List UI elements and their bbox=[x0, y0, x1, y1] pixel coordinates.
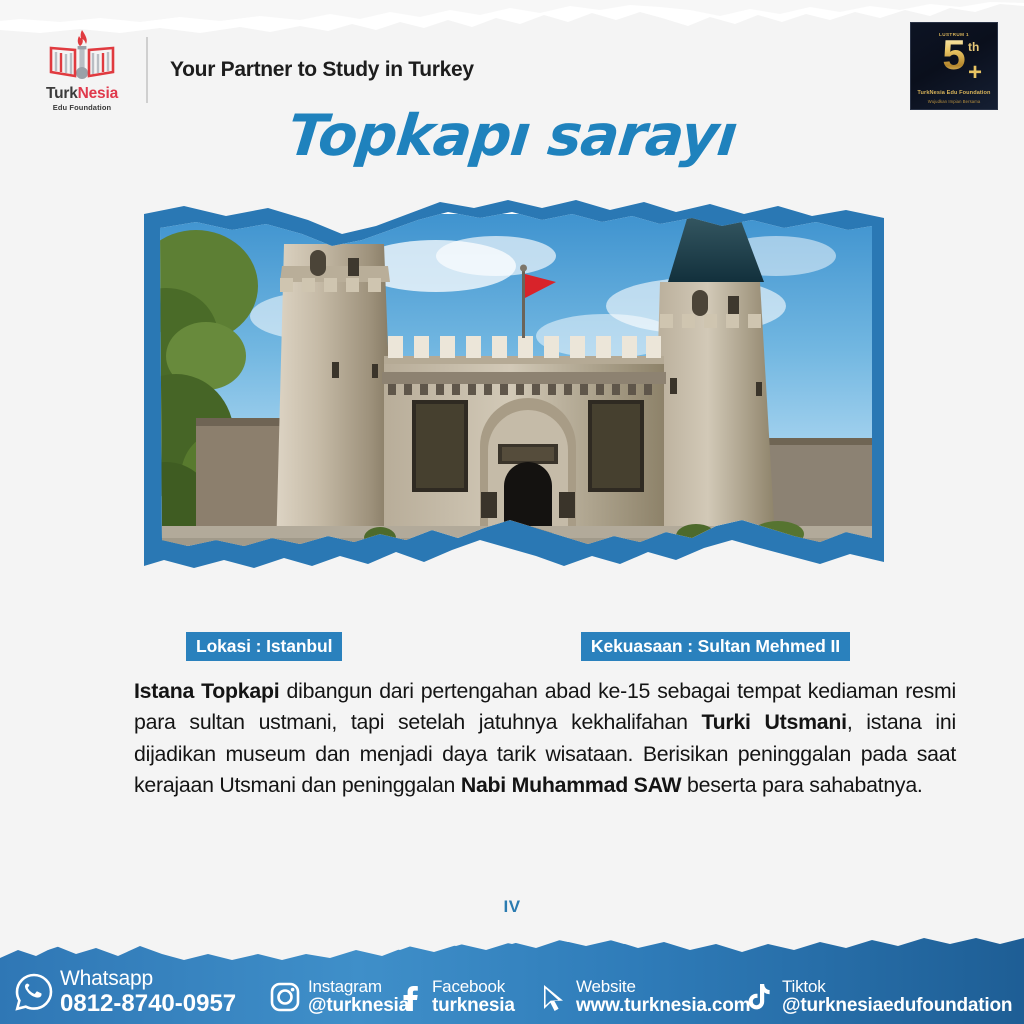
body-text-run: beserta para sahabatnya. bbox=[681, 773, 922, 797]
lustrum-line2: Wujudkan Impian Bersama bbox=[911, 99, 997, 104]
lustrum-badge: LUSTRUM 1 5 th + TurkNesia Edu Foundatio… bbox=[910, 22, 998, 110]
tagline: Your Partner to Study in Turkey bbox=[170, 58, 474, 82]
facebook-icon bbox=[392, 980, 426, 1014]
cursor-arrow-icon bbox=[536, 980, 570, 1014]
footer-item-tiktok[interactable]: Tiktok @turknesiaedufoundation bbox=[742, 978, 1012, 1016]
photo-content bbox=[136, 190, 882, 558]
page-title: Topkapı sarayı bbox=[0, 108, 1024, 165]
website-label: Website bbox=[576, 978, 750, 996]
location-badge: Lokasi : Istanbul bbox=[186, 632, 342, 661]
rule-badge: Kekuasaan : Sultan Mehmed II bbox=[581, 632, 850, 661]
footer-item-facebook[interactable]: Facebook turknesia bbox=[392, 978, 515, 1016]
tiktok-label: Tiktok bbox=[782, 978, 1012, 996]
footer-contact-list: Whatsapp 0812-8740-0957 Instagram @turkn… bbox=[0, 954, 1024, 1024]
body-bold-phrase: Turki Utsmani bbox=[701, 710, 846, 734]
body-bold-phrase: Istana Topkapi bbox=[134, 679, 279, 703]
lustrum-plus: + bbox=[968, 61, 982, 85]
lustrum-line1: TurkNesia Edu Foundation bbox=[911, 90, 997, 96]
contact-footer: Whatsapp 0812-8740-0957 Instagram @turkn… bbox=[0, 932, 1024, 1024]
description-paragraph: Istana Topkapi dibangun dari pertengahan… bbox=[134, 676, 956, 801]
logo-word-turk: Turk bbox=[46, 85, 78, 102]
facebook-handle: turknesia bbox=[432, 996, 515, 1016]
logo-word-nesia: Nesia bbox=[78, 85, 118, 102]
instagram-icon bbox=[268, 980, 302, 1014]
facebook-label: Facebook bbox=[432, 978, 515, 996]
lustrum-number: 5 bbox=[911, 34, 997, 76]
page-number: IV bbox=[0, 897, 1024, 917]
logo-wordmark: TurkNesia bbox=[46, 86, 118, 102]
website-url: www.turknesia.com bbox=[576, 996, 750, 1016]
logo[interactable]: TurkNesia Edu Foundation bbox=[34, 22, 130, 118]
lustrum-ordinal: th bbox=[968, 40, 979, 54]
whatsapp-label: Whatsapp bbox=[60, 968, 236, 990]
footer-item-instagram[interactable]: Instagram @turknesia bbox=[268, 978, 409, 1016]
topkapi-palace-photo bbox=[136, 186, 896, 598]
whatsapp-number: 0812-8740-0957 bbox=[60, 991, 236, 1016]
poster-canvas: TurkNesia Edu Foundation Your Partner to… bbox=[0, 0, 1024, 1024]
whatsapp-icon bbox=[14, 972, 54, 1012]
torch-book-logo-icon bbox=[45, 28, 119, 84]
footer-item-website[interactable]: Website www.turknesia.com bbox=[536, 978, 750, 1016]
body-bold-phrase: Nabi Muhammad SAW bbox=[461, 773, 682, 797]
footer-item-whatsapp[interactable]: Whatsapp 0812-8740-0957 bbox=[14, 968, 236, 1016]
tiktok-handle: @turknesiaedufoundation bbox=[782, 996, 1012, 1016]
fact-badges: Lokasi : Istanbul Kekuasaan : Sultan Meh… bbox=[0, 632, 1024, 664]
header-divider bbox=[146, 37, 148, 103]
tiktok-icon bbox=[742, 980, 776, 1014]
